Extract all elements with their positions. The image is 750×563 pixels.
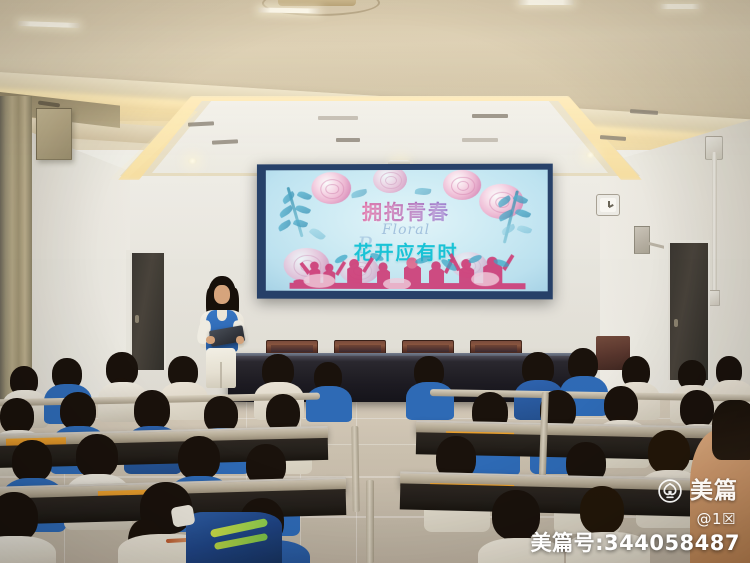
ceiling-bar-fixture xyxy=(278,0,356,6)
door-knob-icon xyxy=(135,315,139,323)
ceiling-vent xyxy=(462,138,498,142)
projection-screen-surface: 拥抱青春 Floral P 花开应有时 xyxy=(266,170,548,292)
ceiling-led-strip xyxy=(518,0,574,5)
door-left[interactable] xyxy=(130,253,164,370)
rose-graphic xyxy=(373,170,407,193)
meipian-logo-icon xyxy=(657,478,683,504)
presenter-face xyxy=(214,285,230,304)
watermark-brand: 美篇 xyxy=(657,478,738,504)
screen-title-main: 拥抱青春 xyxy=(266,196,548,225)
screen-script-overlay: Floral xyxy=(266,222,548,238)
wall-clock xyxy=(596,194,620,216)
presenter xyxy=(192,276,252,386)
crowd-silhouette-graphic xyxy=(290,251,526,289)
ceiling-led-strip xyxy=(258,7,320,13)
soffit-inner-panel xyxy=(152,101,608,173)
backpack-buckle xyxy=(170,504,195,528)
leaf-graphic xyxy=(415,187,432,196)
ceiling-downlight xyxy=(188,158,197,164)
wall-speaker-right xyxy=(634,226,650,254)
ceiling-led-strip xyxy=(660,4,700,9)
presenter-pants-seam xyxy=(220,362,222,388)
projection-screen: 拥抱青春 Floral P 花开应有时 xyxy=(257,164,553,300)
bench-leg xyxy=(366,480,374,563)
bench-leg xyxy=(351,426,359,512)
wall-conduit-pipe xyxy=(712,152,717,302)
watermark-brand-label: 美篇 xyxy=(690,480,738,503)
foreground-head xyxy=(712,400,750,460)
ceiling-vent xyxy=(472,114,508,118)
wall-speaker-left xyxy=(36,108,72,160)
ceiling-vent xyxy=(336,138,360,142)
ceiling-downlight xyxy=(586,152,595,158)
presenter-hand xyxy=(206,336,215,344)
ceiling-vent xyxy=(318,116,358,120)
presenter-collar xyxy=(217,310,227,321)
watermark-username: @1☒ xyxy=(697,510,737,528)
door-knob-icon xyxy=(674,319,678,327)
auditorium-photo: 拥抱青春 Floral P 花开应有时 xyxy=(0,0,750,563)
watermark-account-id: 美篇号:344058487 xyxy=(531,527,740,557)
presenter-hand xyxy=(236,336,244,344)
